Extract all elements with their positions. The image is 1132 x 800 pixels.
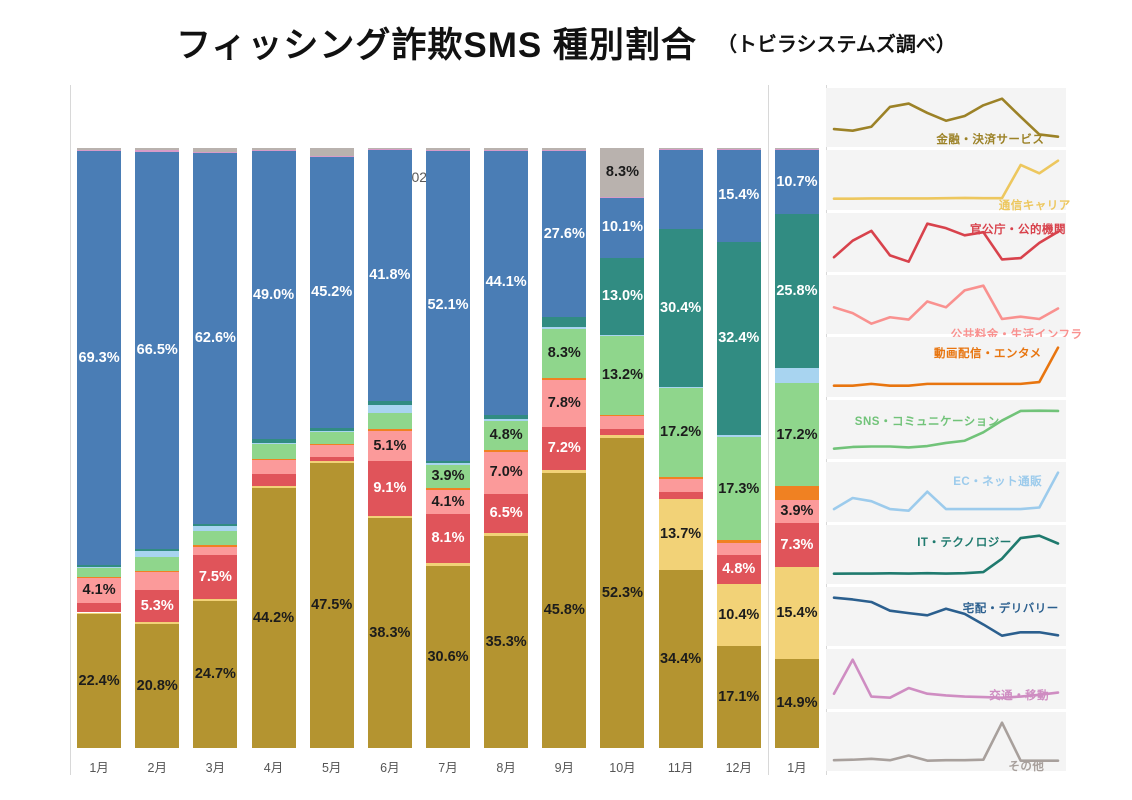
bar-column[interactable]: 24.7%7.5%62.6% [193, 148, 237, 748]
bar-segment[interactable] [368, 148, 412, 149]
bar-segment[interactable]: 17.2% [659, 388, 703, 477]
bar-segment[interactable]: 8.3% [600, 148, 644, 197]
bar-segment[interactable] [542, 148, 586, 150]
segment-value-label: 24.7% [195, 667, 236, 682]
bar-segment[interactable] [310, 457, 354, 461]
bar-segment[interactable]: 35.3% [484, 536, 528, 748]
bar-segment[interactable]: 34.4% [659, 570, 703, 748]
bar-segment[interactable] [77, 577, 121, 578]
bar-stack: 45.8%7.2%7.8%8.3%27.6% [542, 148, 586, 748]
bar-segment[interactable]: 44.2% [252, 488, 296, 748]
segment-value-label: 8.1% [431, 531, 464, 546]
bar-segment[interactable] [368, 405, 412, 413]
month-label: 4月 [264, 757, 283, 776]
bar-segment[interactable]: 6.5% [484, 494, 528, 533]
segment-value-label: 3.9% [431, 469, 464, 484]
segment-value-label: 49.0% [253, 288, 294, 303]
month-label: 8月 [496, 757, 515, 776]
bar-column[interactable]: 52.3%13.2%13.0%10.1%8.3% [600, 148, 644, 748]
segment-value-label: 8.3% [606, 165, 639, 180]
segment-value-label: 47.5% [311, 598, 352, 613]
bar-column[interactable]: 34.4%13.7%17.2%30.4% [659, 148, 703, 748]
bar-segment[interactable] [426, 488, 470, 490]
segment-value-label: 13.2% [602, 368, 643, 383]
sparkline-row[interactable]: 動画配信・エンタメ [826, 337, 1066, 396]
bar-segment[interactable]: 8.1% [426, 514, 470, 562]
bar-segment[interactable] [659, 477, 703, 479]
segment-value-label: 30.6% [427, 650, 468, 665]
segment-value-label: 17.2% [776, 428, 817, 443]
sparkline-label: 金融・決済サービス [936, 131, 1044, 147]
bar-segment[interactable] [659, 148, 703, 149]
bar-segment[interactable] [193, 545, 237, 547]
bar-segment[interactable] [484, 150, 528, 151]
bar-segment[interactable]: 24.7% [193, 601, 237, 748]
bar-segment[interactable] [310, 444, 354, 445]
bar-segment[interactable] [193, 524, 237, 526]
bar-segment[interactable] [310, 148, 354, 156]
segment-value-label: 4.1% [83, 583, 116, 598]
sparkline-path [826, 462, 1066, 521]
sparkline-label: EC・ネット通販 [953, 473, 1042, 489]
sparkline-path [826, 400, 1066, 459]
month-label: 11月 [668, 757, 693, 776]
segment-value-label: 14.9% [776, 696, 817, 711]
segment-value-label: 30.4% [660, 301, 701, 316]
bar-segment[interactable] [484, 415, 528, 419]
segment-value-label: 22.4% [79, 674, 120, 689]
bar-segment[interactable] [542, 378, 586, 380]
segment-value-label: 6.5% [490, 506, 523, 521]
bar-segment[interactable] [135, 150, 179, 151]
bar-segment[interactable] [135, 549, 179, 551]
segment-value-label: 41.8% [369, 268, 410, 283]
bar-segment[interactable] [426, 563, 470, 566]
bar-stack: 20.8%5.3%66.5% [135, 148, 179, 748]
bar-column[interactable]: 38.3%9.1%5.1%41.8% [368, 148, 412, 748]
segment-value-label: 44.2% [253, 611, 294, 626]
bar-segment[interactable] [659, 149, 703, 150]
bar-segment[interactable]: 10.1% [600, 198, 644, 258]
segment-value-label: 3.9% [780, 504, 813, 519]
bar-segment[interactable]: 13.0% [600, 258, 644, 335]
bar-segment[interactable]: 17.2% [775, 383, 819, 486]
bar-segment[interactable]: 9.1% [368, 461, 412, 516]
bar-segment[interactable] [775, 486, 819, 500]
bar-segment[interactable]: 4.8% [484, 421, 528, 450]
bar-segment[interactable] [252, 150, 296, 151]
bar-stack: 52.3%13.2%13.0%10.1%8.3% [600, 148, 644, 748]
month-label: 3月 [206, 757, 225, 776]
bar-segment[interactable]: 10.7% [775, 150, 819, 214]
segment-value-label: 9.1% [373, 481, 406, 496]
stacked-bar-chart: 20252026 22.4%4.1%69.3%20.8%5.3%66.5%24.… [70, 85, 826, 800]
month-label: 6月 [380, 757, 399, 776]
bar-segment[interactable] [368, 413, 412, 429]
month-label: 12月 [726, 757, 752, 776]
bar-segment[interactable]: 41.8% [368, 150, 412, 401]
bar-segment[interactable]: 5.1% [368, 431, 412, 462]
bar-segment[interactable] [368, 516, 412, 518]
bar-column[interactable]: 47.5%45.2% [310, 148, 354, 748]
bar-stack: 30.6%8.1%4.1%3.9%52.1% [426, 148, 470, 748]
bar-segment[interactable] [775, 148, 819, 149]
page-title: フィッシング詐欺SMS 種別割合 [176, 17, 697, 68]
segment-value-label: 52.3% [602, 586, 643, 601]
bar-segment[interactable]: 52.3% [600, 438, 644, 748]
month-label: 2月 [147, 757, 166, 776]
segment-value-label: 25.8% [776, 284, 817, 299]
bar-segment[interactable]: 44.1% [484, 150, 528, 415]
bar-segment[interactable]: 13.2% [600, 336, 644, 414]
sparkline-label: 官公庁・公的機関 [970, 221, 1066, 237]
bar-segment[interactable] [135, 551, 179, 557]
month-label: 7月 [438, 757, 457, 776]
bar-segment[interactable]: 20.8% [135, 624, 179, 748]
segment-value-label: 7.0% [490, 465, 523, 480]
month-label: 1月 [787, 757, 806, 776]
bar-segment[interactable] [775, 149, 819, 150]
segment-value-label: 17.3% [718, 482, 759, 497]
bar-segment[interactable] [600, 435, 644, 438]
bar-segment[interactable]: 66.5% [135, 152, 179, 549]
bar-segment[interactable]: 7.3% [775, 523, 819, 567]
bar-column[interactable]: 44.2%49.0% [252, 148, 296, 748]
bar-segment[interactable] [193, 547, 237, 555]
sparkline-label: IT・テクノロジー [917, 534, 1012, 550]
bar-segment[interactable]: 3.9% [775, 500, 819, 523]
bar-segment[interactable] [135, 622, 179, 624]
bar-segment[interactable] [252, 459, 296, 460]
bar-column[interactable]: 14.9%15.4%7.3%3.9%17.2%25.8%10.7% [775, 148, 819, 748]
bar-segment[interactable] [193, 531, 237, 545]
bar-segment[interactable]: 30.4% [659, 229, 703, 386]
segment-value-label: 52.1% [427, 298, 468, 313]
segment-value-label: 4.8% [722, 562, 755, 577]
bar-segment[interactable] [77, 567, 121, 569]
segment-value-label: 4.1% [431, 495, 464, 510]
bar-segment[interactable] [310, 432, 354, 444]
bar-segment[interactable]: 17.3% [717, 437, 761, 540]
bar-segment[interactable]: 27.6% [542, 151, 586, 317]
bar-segment[interactable] [77, 603, 121, 613]
bar-stack: 17.1%10.4%4.8%17.3%32.4%15.4% [717, 148, 761, 748]
segment-value-label: 13.0% [602, 289, 643, 304]
month-label: 9月 [555, 757, 574, 776]
bar-segment[interactable]: 7.5% [193, 555, 237, 600]
bar-segment[interactable] [193, 599, 237, 601]
bar-segment[interactable] [600, 429, 644, 436]
sparkline-row[interactable]: 官公庁・公的機関 [826, 213, 1066, 272]
bar-segment[interactable] [135, 571, 179, 572]
bar-segment[interactable] [542, 317, 586, 327]
bar-segment[interactable]: 8.3% [542, 329, 586, 379]
segment-value-label: 38.3% [369, 626, 410, 641]
sparkline-label: 交通・移動 [989, 687, 1049, 703]
segment-value-label: 44.1% [486, 275, 527, 290]
sparkline-row[interactable]: IT・テクノロジー [826, 525, 1066, 584]
bar-segment[interactable] [659, 492, 703, 499]
bar-segment[interactable] [310, 445, 354, 457]
bar-segment[interactable]: 14.9% [775, 659, 819, 748]
segment-value-label: 17.1% [718, 690, 759, 705]
bar-segment[interactable]: 45.2% [310, 157, 354, 428]
bar-segment[interactable] [426, 463, 470, 465]
bar-segment[interactable] [368, 429, 412, 431]
bar-segment[interactable] [193, 148, 237, 152]
bar-segment[interactable]: 5.3% [135, 590, 179, 622]
bar-segment[interactable]: 10.4% [717, 584, 761, 646]
bar-segment[interactable] [252, 439, 296, 443]
bar-segment[interactable] [600, 416, 644, 428]
bar-segment[interactable]: 7.0% [484, 452, 528, 494]
bar-stack: 34.4%13.7%17.2%30.4% [659, 148, 703, 748]
bar-segment[interactable] [600, 415, 644, 417]
bar-segment[interactable] [135, 148, 179, 150]
segment-value-label: 10.1% [602, 220, 643, 235]
bar-segment[interactable]: 15.4% [775, 567, 819, 659]
segment-value-label: 5.1% [373, 439, 406, 454]
sparkline-label: SNS・コミュニケーション [855, 413, 1000, 429]
bar-segment[interactable] [426, 148, 470, 150]
bar-segment[interactable] [484, 450, 528, 452]
bar-segment[interactable]: 17.1% [717, 646, 761, 748]
sparkline-row[interactable]: 宅配・デリバリー [826, 587, 1066, 646]
sparkline-label: 動画配信・エンタメ [934, 345, 1042, 361]
bar-column[interactable]: 30.6%8.1%4.1%3.9%52.1% [426, 148, 470, 748]
bar-stack: 14.9%15.4%7.3%3.9%17.2%25.8%10.7% [775, 148, 819, 748]
segment-value-label: 62.6% [195, 331, 236, 346]
bar-segment[interactable]: 7.8% [542, 380, 586, 427]
bar-segment[interactable] [484, 533, 528, 537]
bar-segment[interactable] [77, 613, 121, 615]
bar-segment[interactable]: 13.7% [659, 499, 703, 570]
bar-column[interactable]: 45.8%7.2%7.8%8.3%27.6% [542, 148, 586, 748]
bar-segment[interactable]: 3.9% [426, 465, 470, 488]
bar-segment[interactable]: 22.4% [77, 614, 121, 748]
bar-column[interactable]: 17.1%10.4%4.8%17.3%32.4%15.4% [717, 148, 761, 748]
bar-segment[interactable]: 62.6% [193, 152, 237, 524]
bar-segment[interactable]: 4.1% [77, 578, 121, 602]
bar-stack: 24.7%7.5%62.6% [193, 148, 237, 748]
bar-segment[interactable] [484, 148, 528, 150]
bar-segment[interactable] [193, 526, 237, 531]
segment-value-label: 7.2% [548, 441, 581, 456]
bar-segment[interactable] [484, 419, 528, 421]
bar-stack: 44.2%49.0% [252, 148, 296, 748]
sparkline-row[interactable]: 通信キャリア [826, 150, 1066, 209]
segment-value-label: 69.3% [79, 351, 120, 366]
sparkline-row[interactable]: 公共料金・生活インフラ [826, 275, 1066, 334]
bar-segment[interactable] [77, 568, 121, 577]
segment-value-label: 15.4% [776, 606, 817, 621]
bar-segment[interactable] [310, 156, 354, 157]
segment-value-label: 32.4% [718, 331, 759, 346]
bar-segment[interactable]: 38.3% [368, 518, 412, 748]
bar-segment[interactable] [252, 474, 296, 486]
sparkline-row[interactable]: 金融・決済サービス [826, 88, 1066, 147]
page-subtitle: （トビラシステムズ調べ） [717, 28, 956, 57]
segment-value-label: 27.6% [544, 227, 585, 242]
bar-segment[interactable] [659, 479, 703, 492]
bar-segment[interactable] [542, 150, 586, 151]
bar-segment[interactable] [717, 540, 761, 542]
bar-segment[interactable] [193, 152, 237, 153]
bar-segment[interactable] [252, 148, 296, 150]
month-label: 10月 [609, 757, 635, 776]
month-label: 1月 [89, 757, 108, 776]
bars-area: 22.4%4.1%69.3%20.8%5.3%66.5%24.7%7.5%62.… [70, 148, 826, 748]
bar-segment[interactable] [542, 470, 586, 473]
bar-segment[interactable] [310, 461, 354, 463]
bar-segment[interactable] [135, 557, 179, 570]
segment-value-label: 5.3% [141, 599, 174, 614]
sparkline-legend-panel: 金融・決済サービス通信キャリア官公庁・公的機関公共料金・生活インフラ動画配信・エ… [826, 88, 1066, 774]
segment-value-label: 34.4% [660, 652, 701, 667]
sparkline-label: 宅配・デリバリー [963, 600, 1059, 616]
segment-value-label: 17.2% [660, 425, 701, 440]
bar-segment[interactable] [659, 387, 703, 389]
segment-value-label: 4.8% [490, 428, 523, 443]
sparkline-row[interactable]: SNS・コミュニケーション [826, 400, 1066, 459]
bar-segment[interactable] [775, 368, 819, 384]
bar-segment[interactable] [252, 460, 296, 474]
sparkline-path [826, 587, 1066, 646]
segment-value-label: 45.8% [544, 603, 585, 618]
bar-column[interactable]: 35.3%6.5%7.0%4.8%44.1% [484, 148, 528, 748]
bar-segment[interactable] [77, 148, 121, 150]
bar-segment[interactable]: 30.6% [426, 566, 470, 748]
bar-segment[interactable]: 47.5% [310, 463, 354, 748]
bar-segment[interactable] [542, 327, 586, 329]
bar-segment[interactable] [717, 435, 761, 437]
bar-segment[interactable]: 49.0% [252, 151, 296, 439]
sparkline-label: その他 [1008, 758, 1044, 774]
bar-segment[interactable] [717, 543, 761, 556]
bar-stack: 22.4%4.1%69.3% [77, 148, 121, 748]
segment-value-label: 10.7% [776, 175, 817, 190]
segment-value-label: 13.7% [660, 527, 701, 542]
bar-segment[interactable] [310, 431, 354, 432]
bar-column[interactable]: 20.8%5.3%66.5% [135, 148, 179, 748]
bar-segment[interactable]: 7.2% [542, 427, 586, 470]
segment-value-label: 8.3% [548, 346, 581, 361]
bar-segment[interactable] [368, 149, 412, 150]
segment-value-label: 35.3% [486, 635, 527, 650]
bar-segment[interactable]: 4.8% [717, 555, 761, 584]
bar-segment[interactable]: 25.8% [775, 214, 819, 368]
sparkline-row[interactable]: EC・ネット通販 [826, 462, 1066, 521]
segment-value-label: 10.4% [718, 608, 759, 623]
bar-segment[interactable] [77, 150, 121, 151]
bar-stack: 38.3%9.1%5.1%41.8% [368, 148, 412, 748]
segment-value-label: 7.8% [548, 396, 581, 411]
bar-stack: 35.3%6.5%7.0%4.8%44.1% [484, 148, 528, 748]
bar-segment[interactable]: 32.4% [717, 242, 761, 435]
bar-segment[interactable] [659, 150, 703, 230]
bar-segment[interactable] [252, 443, 296, 445]
bar-segment[interactable] [717, 149, 761, 150]
bar-segment[interactable] [252, 444, 296, 458]
bar-segment[interactable]: 4.1% [426, 490, 470, 514]
month-label: 5月 [322, 757, 341, 776]
bar-segment[interactable] [600, 335, 644, 337]
segment-value-label: 45.2% [311, 285, 352, 300]
bar-segment[interactable]: 69.3% [77, 151, 121, 565]
sparkline-row[interactable]: その他 [826, 712, 1066, 771]
title-bar: フィッシング詐欺SMS 種別割合 （トビラシステムズ調べ） [0, 0, 1132, 85]
bar-segment[interactable] [368, 401, 412, 405]
bar-segment[interactable] [717, 148, 761, 149]
sparkline-label: 通信キャリア [999, 197, 1071, 213]
segment-value-label: 66.5% [137, 343, 178, 358]
segment-value-label: 7.3% [780, 538, 813, 553]
bar-segment[interactable] [77, 565, 121, 567]
bar-segment[interactable]: 15.4% [717, 150, 761, 242]
bar-segment[interactable] [310, 428, 354, 430]
bar-segment[interactable] [135, 572, 179, 591]
bar-segment[interactable] [426, 461, 470, 463]
bar-segment[interactable]: 52.1% [426, 150, 470, 460]
bar-segment[interactable] [600, 197, 644, 198]
segment-value-label: 7.5% [199, 570, 232, 585]
sparkline-row[interactable]: 交通・移動 [826, 649, 1066, 708]
bar-segment[interactable] [426, 150, 470, 151]
bar-stack: 47.5%45.2% [310, 148, 354, 748]
bar-column[interactable]: 22.4%4.1%69.3% [77, 148, 121, 748]
bar-segment[interactable]: 45.8% [542, 473, 586, 748]
segment-value-label: 15.4% [718, 188, 759, 203]
segment-value-label: 20.8% [137, 679, 178, 694]
bar-segment[interactable] [252, 486, 296, 488]
